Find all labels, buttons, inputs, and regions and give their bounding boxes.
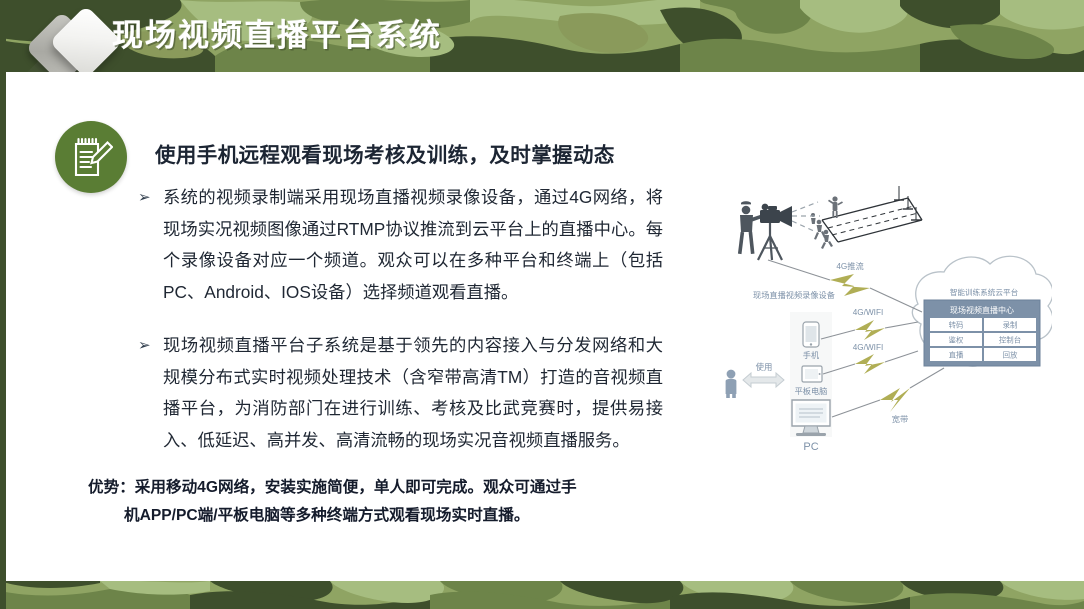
link-label-tablet: 4G/WIFI — [853, 343, 883, 352]
device-label-pc: PC — [803, 441, 818, 453]
center-cell-3: 控制台 — [999, 336, 1021, 345]
cloud-title: 智能训练系统云平台 — [950, 287, 1019, 297]
advantage-block: 优势：采用移动4G网络，安装实施简便，单人即可完成。观众可通过手 机APP/PC… — [88, 474, 648, 530]
slide: 现场视频直播平台系统 — [0, 0, 1084, 609]
bullet-text: 系统的视频录制端采用现场直播视频录像设备，通过4G网络，将现场实况视频图像通过R… — [163, 187, 663, 302]
lightning-bolt-icon — [855, 354, 885, 374]
lightning-bolt-icon — [830, 274, 870, 296]
bullet-marker-icon: ➢ — [138, 330, 151, 362]
center-cell-2: 鉴权 — [949, 336, 964, 345]
tablet-icon — [802, 366, 822, 382]
person-icon — [726, 370, 737, 398]
link-label-pc: 宽带 — [892, 414, 908, 424]
list-item: ➢ 现场视频直播平台子系统是基于领先的内容接入与分发网络和大规模分布式实时视频处… — [138, 330, 663, 456]
camera-tripod-icon — [738, 201, 820, 260]
lightning-bolt-icon — [880, 388, 910, 412]
slide-body: 使用手机远程观看现场考核及训练，及时掌握动态 ➢ 系统的视频录制端采用现场直播视… — [0, 72, 1084, 581]
slide-footer — [0, 581, 1084, 609]
push-label: 4G推流 — [836, 261, 863, 271]
center-title: 现场视频直播中心 — [950, 305, 1014, 315]
advantage-line-1: 采用移动4G网络，安装实施简便，单人即可完成。观众可通过手 — [135, 479, 577, 496]
live-center-panel: 现场视频直播中心 转码 录制 鉴权 控制台 直播 回放 — [924, 300, 1040, 366]
device-label-phone: 手机 — [803, 350, 820, 360]
lightning-bolt-icon — [855, 320, 885, 340]
double-arrow-icon — [743, 373, 784, 387]
headline-text: 使用手机远程观看现场考核及训练，及时掌握动态 — [155, 138, 615, 168]
camouflage-pattern-footer — [0, 581, 1084, 609]
capture-label: 现场直播视频录像设备 — [753, 290, 835, 300]
bullet-text: 现场视频直播平台子系统是基于领先的内容接入与分发网络和大规模分布式实时视频处理技… — [163, 335, 663, 450]
link-label-phone: 4G/WIFI — [853, 308, 883, 317]
center-cell-0: 转码 — [949, 321, 964, 330]
bullet-list: ➢ 系统的视频录制端采用现场直播视频录像设备，通过4G网络，将现场实况视频图像通… — [138, 182, 663, 478]
advantage-line-2: 机APP/PC端/平板电脑等多种终端方式观看现场实时直播。 — [124, 507, 529, 524]
advantage-label: 优势： — [88, 479, 135, 496]
notepad-pencil-icon — [55, 121, 127, 193]
center-cell-1: 录制 — [1003, 321, 1018, 330]
bullet-marker-icon: ➢ — [138, 182, 151, 214]
page-title: 现场视频直播平台系统 — [112, 14, 442, 58]
slide-left-rail — [0, 0, 6, 609]
list-item: ➢ 系统的视频录制端采用现场直播视频录像设备，通过4G网络，将现场实况视频图像通… — [138, 182, 663, 308]
center-cell-5: 回放 — [1003, 351, 1018, 360]
center-cell-4: 直播 — [949, 351, 964, 360]
slide-header: 现场视频直播平台系统 — [0, 0, 1084, 72]
user-label: 使用 — [756, 362, 773, 372]
architecture-diagram: 智能训练系统云平台 现场视频直播中心 转码 录制 鉴权 控制台 直播 — [722, 182, 1052, 517]
device-label-tablet: 平板电脑 — [795, 386, 828, 396]
phone-icon — [803, 322, 819, 347]
